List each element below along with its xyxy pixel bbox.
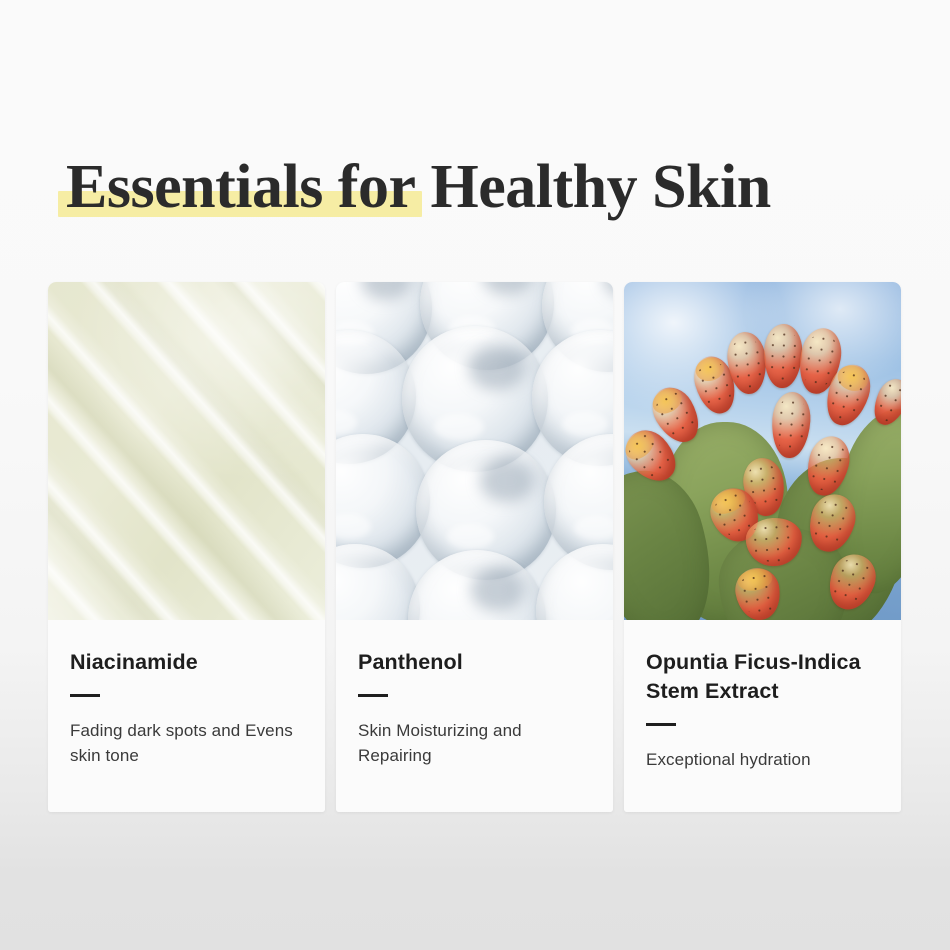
bubble-shape (336, 544, 420, 620)
card-description: Exceptional hydration (646, 747, 879, 772)
ingredient-card-niacinamide[interactable]: Niacinamide Fading dark spots and Evens … (48, 282, 325, 812)
card-description: Fading dark spots and Evens skin tone (70, 718, 303, 768)
card-description: Skin Moisturizing and Repairing (358, 718, 591, 768)
cactus-fruit (763, 323, 803, 388)
ingredient-card-opuntia[interactable]: Opuntia Ficus-Indica Stem Extract Except… (624, 282, 901, 812)
cactus-fruit (770, 391, 813, 459)
card-divider (358, 694, 388, 697)
card-title: Niacinamide (70, 648, 303, 677)
card-body: Opuntia Ficus-Indica Stem Extract Except… (624, 620, 901, 812)
headline-highlighted-segment: Essentials for (66, 150, 416, 224)
card-body: Niacinamide Fading dark spots and Evens … (48, 620, 325, 812)
water-bubbles-image (336, 282, 613, 620)
prickly-pear-cactus-image (624, 282, 901, 620)
card-body: Panthenol Skin Moisturizing and Repairin… (336, 620, 613, 812)
card-title: Panthenol (358, 648, 591, 677)
headline-container: Essentials for Healthy Skin (0, 150, 950, 240)
card-divider (70, 694, 100, 697)
ingredient-card-row: Niacinamide Fading dark spots and Evens … (48, 282, 902, 812)
infographic-poster: Essentials for Healthy Skin Niacinamide … (0, 0, 950, 950)
card-title: Opuntia Ficus-Indica Stem Extract (646, 648, 879, 706)
ingredient-card-panthenol[interactable]: Panthenol Skin Moisturizing and Repairin… (336, 282, 613, 812)
card-divider (646, 723, 676, 726)
page-title: Essentials for Healthy Skin (66, 150, 771, 224)
cream-texture-image (48, 282, 325, 620)
bubble-shape (536, 544, 613, 620)
headline-plain-segment: Healthy Skin (416, 153, 771, 221)
